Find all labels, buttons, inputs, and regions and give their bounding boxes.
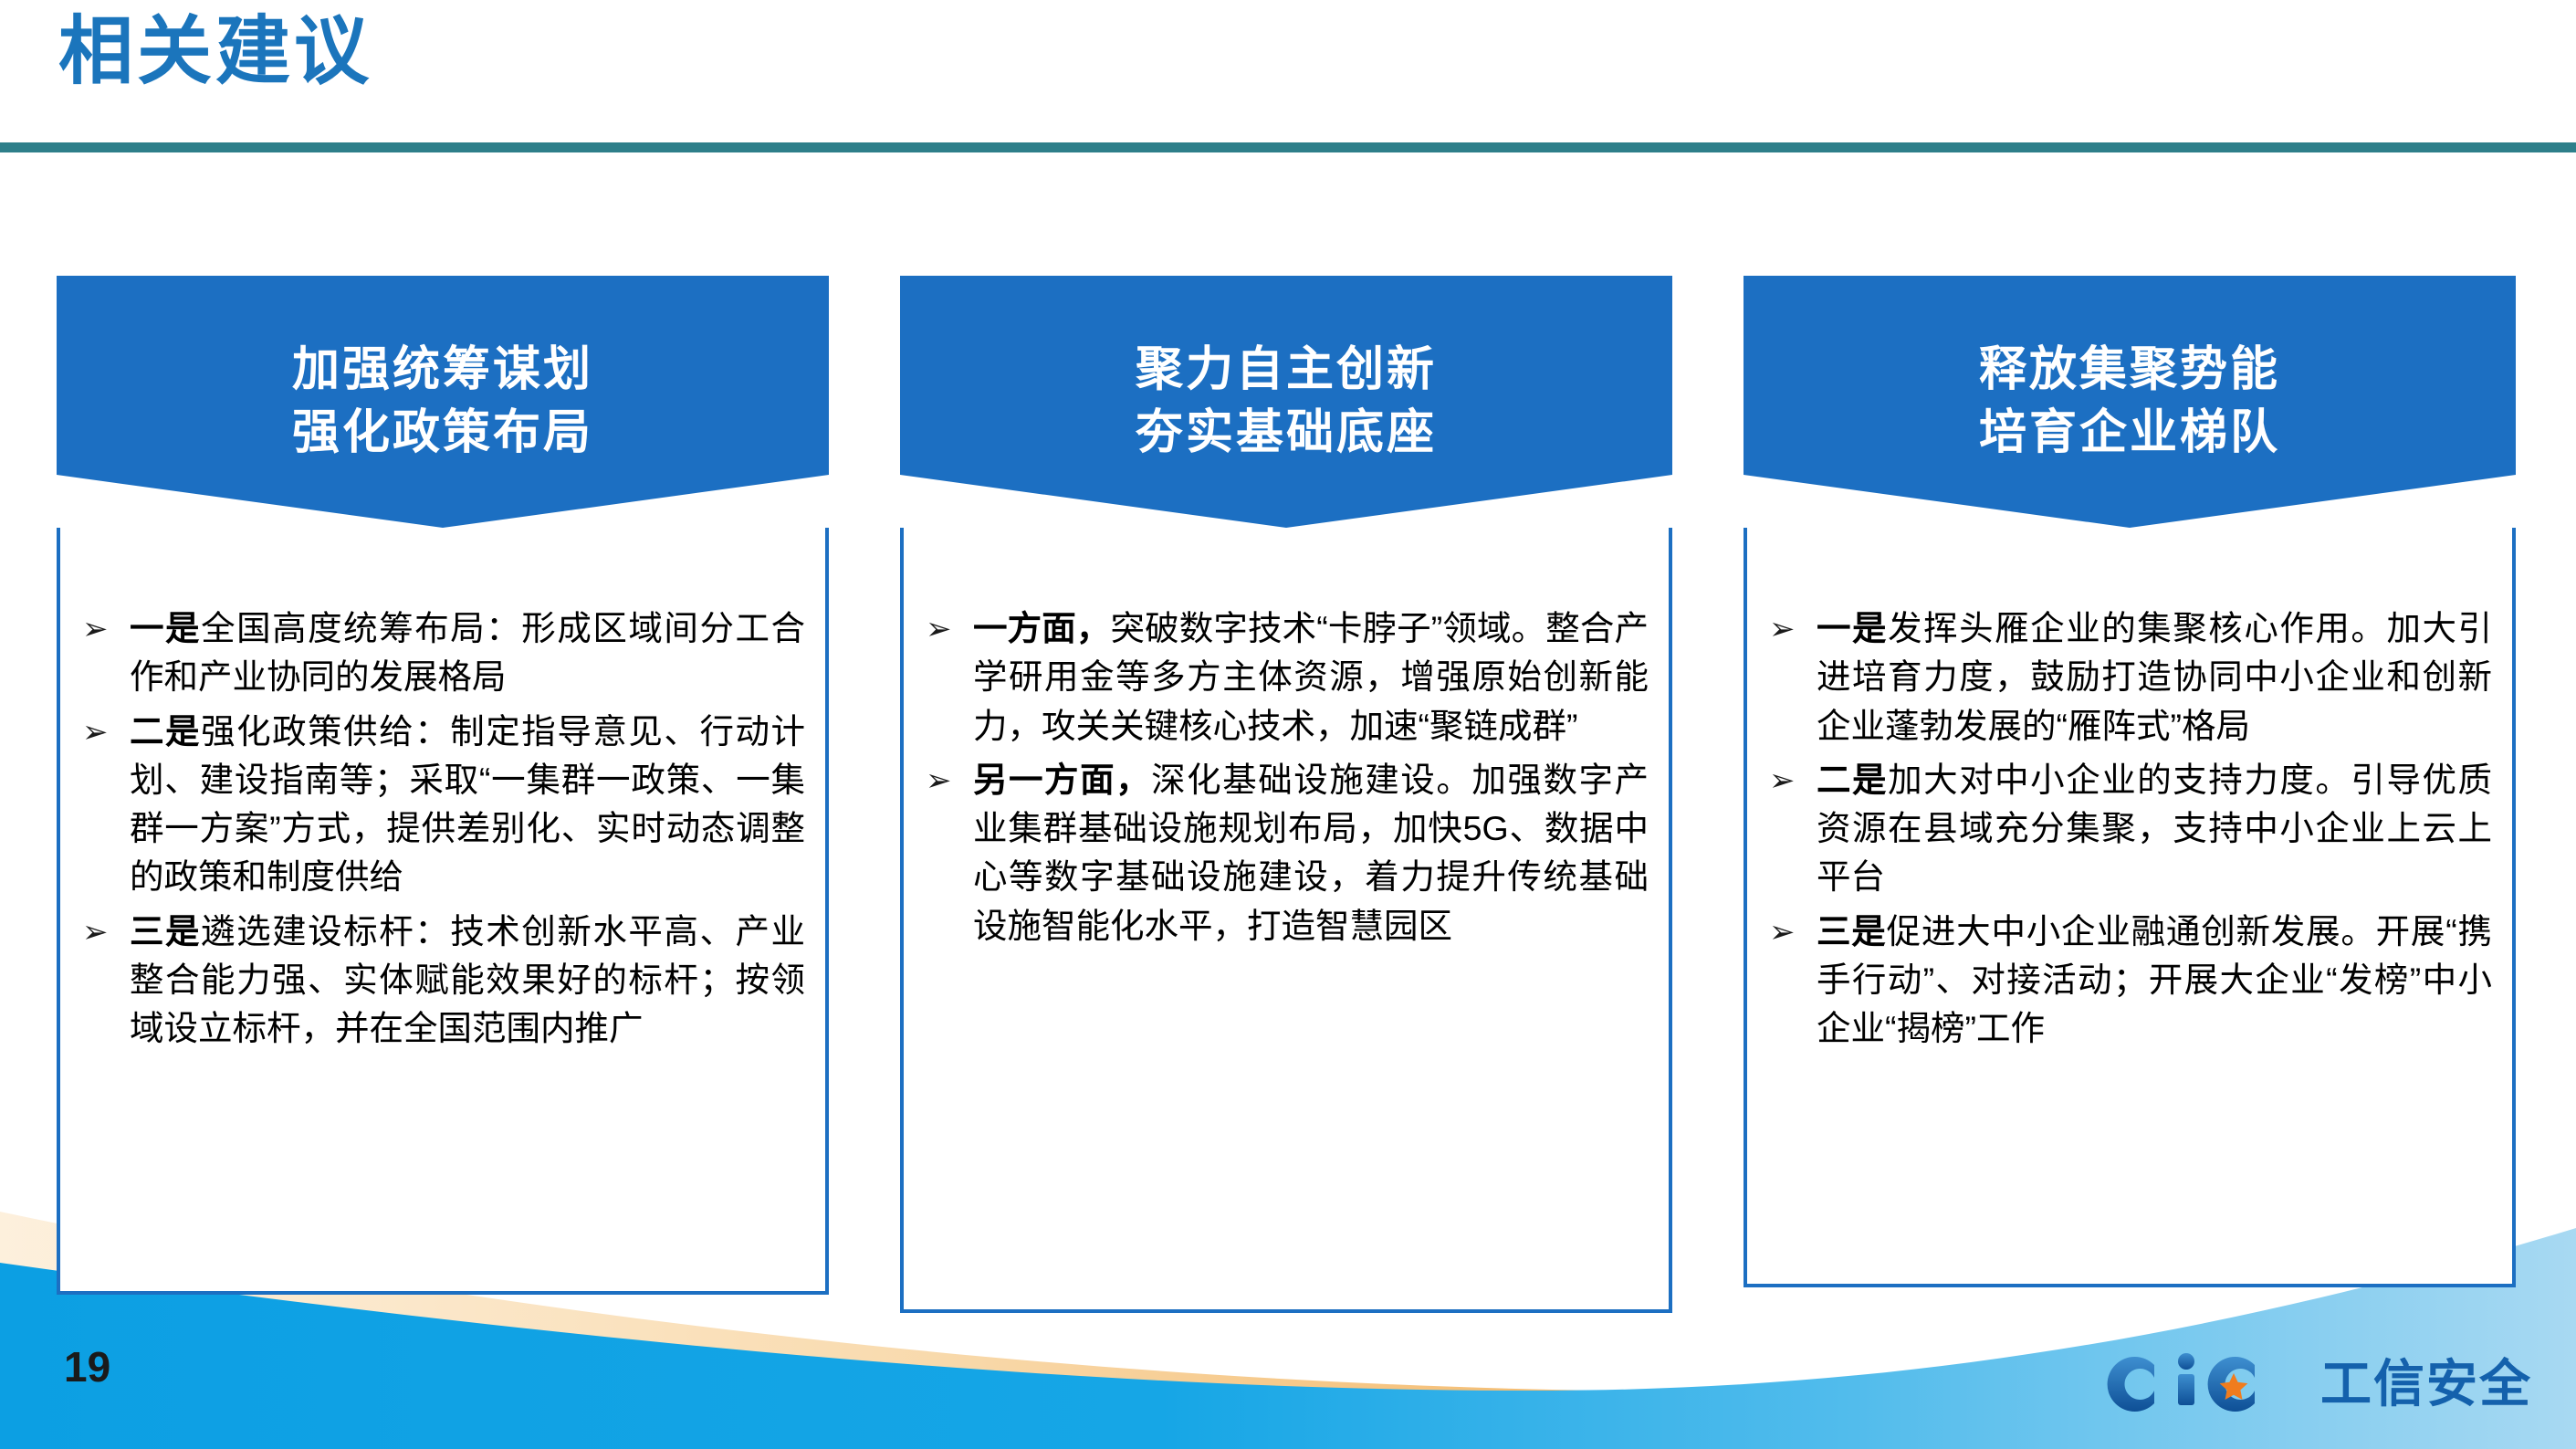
- card-2-header-line-2: 夯实基础底座: [1136, 402, 1437, 465]
- bullet-lead: 三是: [1817, 912, 1887, 950]
- card-2-header: 聚力自主创新 夯实基础底座: [900, 276, 1672, 528]
- bullet-text: 强化政策供给：制定指导意见、行动计划、建设指南等；采取“一集群一政策、一集群一方…: [130, 712, 805, 897]
- arrow-bullet-icon: ➢: [82, 912, 109, 952]
- list-item: ➢ 一方面，突破数字技术“卡脖子”领域。整合产学研用金等多方主体资源，增强原始创…: [924, 604, 1649, 751]
- arrow-bullet-icon: ➢: [82, 712, 109, 752]
- bullet-text: 加大对中小企业的支持力度。引导优质资源在县域充分集聚，支持中小企业上云上平台: [1817, 761, 2492, 897]
- bullet-text: 促进大中小企业融通创新发展。开展“携手行动”、对接活动；开展大企业“发榜”中小企…: [1817, 912, 2492, 1048]
- page-number: 19: [64, 1342, 110, 1391]
- card-3-header-line-1: 释放集聚势能: [1979, 339, 2280, 402]
- recommendation-card-3: 释放集聚势能 培育企业梯队 ➢ 一是发挥头雁企业的集聚核心作用。加大引进培育力度…: [1744, 276, 2516, 528]
- recommendation-card-2: 聚力自主创新 夯实基础底座 ➢ 一方面，突破数字技术“卡脖子”领域。整合产学研用…: [900, 276, 1672, 528]
- card-1-header-line-2: 强化政策布局: [292, 402, 593, 465]
- list-item: ➢ 三是遴选建设标杆：技术创新水平高、产业整合能力强、实体赋能效果好的标杆；按领…: [80, 908, 805, 1054]
- card-1-header-line-1: 加强统筹谋划: [292, 339, 593, 402]
- bullet-lead: 二是: [1817, 761, 1888, 799]
- bullet-lead: 三是: [130, 912, 201, 950]
- slide-canvas: 相关建议 加强统筹谋划 强化政策布局 ➢ 一是全国高度统筹布局：形成区域间分工合…: [0, 0, 2576, 1449]
- bullet-lead: 另一方面，: [973, 761, 1151, 799]
- arrow-bullet-icon: ➢: [926, 761, 952, 801]
- bullet-text: 全国高度统筹布局：形成区域间分工合作和产业协同的发展格局: [130, 609, 805, 696]
- card-2-header-line-1: 聚力自主创新: [1136, 339, 1437, 402]
- brand-logo: 工信安全: [2101, 1345, 2532, 1423]
- card-1-header: 加强统筹谋划 强化政策布局: [57, 276, 829, 528]
- card-1-body: ➢ 一是全国高度统筹布局：形成区域间分工合作和产业协同的发展格局 ➢ 二是强化政…: [57, 528, 829, 1295]
- bullet-text: 遴选建设标杆：技术创新水平高、产业整合能力强、实体赋能效果好的标杆；按领域设立标…: [130, 912, 805, 1048]
- cic-logo-icon: [2101, 1345, 2311, 1423]
- arrow-bullet-icon: ➢: [1769, 609, 1796, 649]
- card-3-header-line-2: 培育企业梯队: [1979, 402, 2280, 465]
- card-3-header: 释放集聚势能 培育企业梯队: [1744, 276, 2516, 528]
- list-item: ➢ 一是发挥头雁企业的集聚核心作用。加大引进培育力度，鼓励打造协同中小企业和创新…: [1767, 604, 2492, 751]
- page-title: 相关建议: [58, 7, 372, 97]
- card-2-bullet-list: ➢ 一方面，突破数字技术“卡脖子”领域。整合产学研用金等多方主体资源，增强原始创…: [924, 604, 1649, 950]
- list-item: ➢ 三是促进大中小企业融通创新发展。开展“携手行动”、对接活动；开展大企业“发榜…: [1767, 908, 2492, 1054]
- list-item: ➢ 另一方面，深化基础设施建设。加强数字产业集群基础设施规划布局，加快5G、数据…: [924, 756, 1649, 950]
- arrow-bullet-icon: ➢: [82, 609, 109, 649]
- recommendation-card-1: 加强统筹谋划 强化政策布局 ➢ 一是全国高度统筹布局：形成区域间分工合作和产业协…: [57, 276, 829, 528]
- card-1-bullet-list: ➢ 一是全国高度统筹布局：形成区域间分工合作和产业协同的发展格局 ➢ 二是强化政…: [80, 604, 805, 1053]
- card-3-body: ➢ 一是发挥头雁企业的集聚核心作用。加大引进培育力度，鼓励打造协同中小企业和创新…: [1744, 528, 2516, 1287]
- list-item: ➢ 二是加大对中小企业的支持力度。引导优质资源在县域充分集聚，支持中小企业上云上…: [1767, 756, 2492, 902]
- bullet-lead: 二是: [130, 712, 201, 751]
- card-2-body: ➢ 一方面，突破数字技术“卡脖子”领域。整合产学研用金等多方主体资源，增强原始创…: [900, 528, 1672, 1313]
- arrow-bullet-icon: ➢: [926, 609, 952, 649]
- bullet-lead: 一是: [1817, 609, 1888, 647]
- arrow-bullet-icon: ➢: [1769, 912, 1796, 952]
- arrow-bullet-icon: ➢: [1769, 761, 1796, 801]
- card-3-bullet-list: ➢ 一是发挥头雁企业的集聚核心作用。加大引进培育力度，鼓励打造协同中小企业和创新…: [1767, 604, 2492, 1053]
- list-item: ➢ 二是强化政策供给：制定指导意见、行动计划、建设指南等；采取“一集群一政策、一…: [80, 708, 805, 902]
- bullet-text: 发挥头雁企业的集聚核心作用。加大引进培育力度，鼓励打造协同中小企业和创新企业蓬勃…: [1817, 609, 2492, 745]
- title-divider: [0, 142, 2576, 152]
- logo-text: 工信安全: [2320, 1359, 2532, 1410]
- bullet-lead: 一是: [130, 609, 201, 647]
- list-item: ➢ 一是全国高度统筹布局：形成区域间分工合作和产业协同的发展格局: [80, 604, 805, 702]
- bullet-lead: 一方面，: [973, 609, 1111, 647]
